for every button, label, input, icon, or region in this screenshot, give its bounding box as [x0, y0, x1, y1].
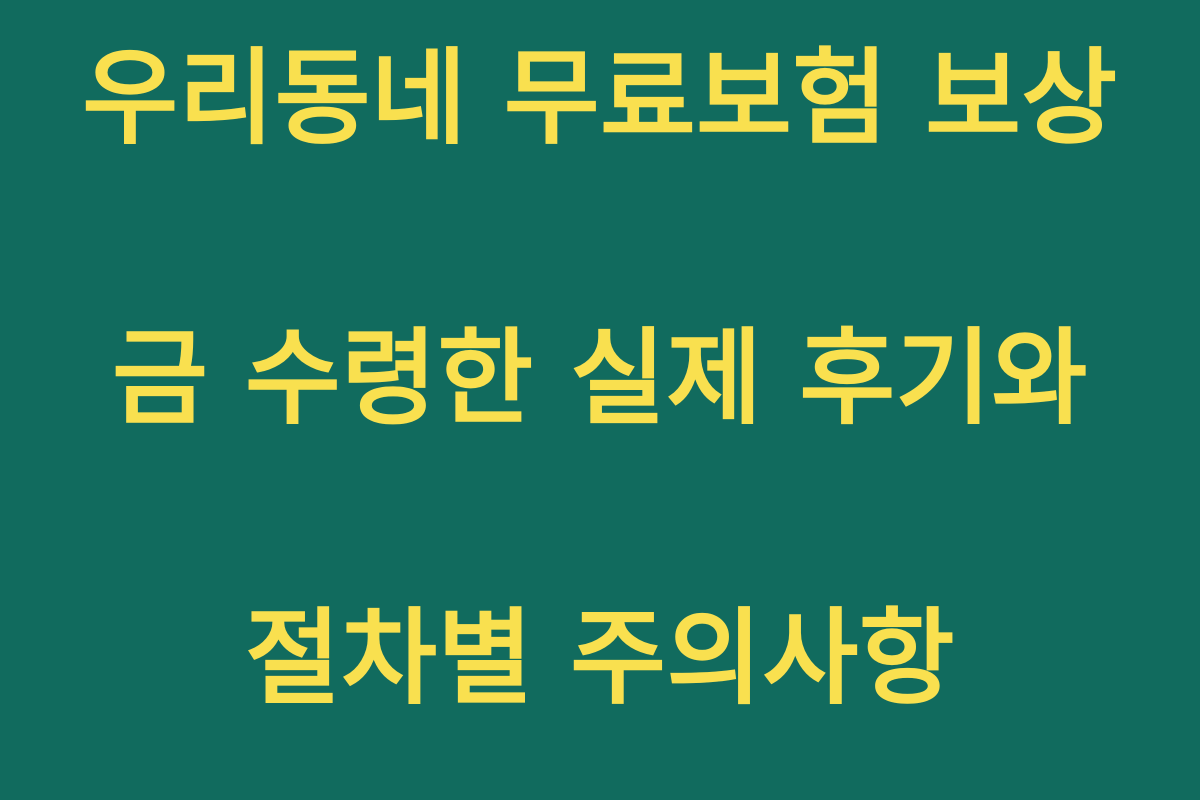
title-card: 우리동네 무료보험 보상 금 수령한 실제 후기와 절차별 주의사항 — [0, 0, 1200, 800]
page-title: 우리동네 무료보험 보상 금 수령한 실제 후기와 절차별 주의사항 — [0, 0, 1200, 800]
headline-line-2: 금 수령한 실제 후기와 — [40, 308, 1160, 448]
headline-line-1: 우리동네 무료보험 보상 — [40, 28, 1160, 168]
headline-line-3: 절차별 주의사항 — [40, 588, 1160, 728]
